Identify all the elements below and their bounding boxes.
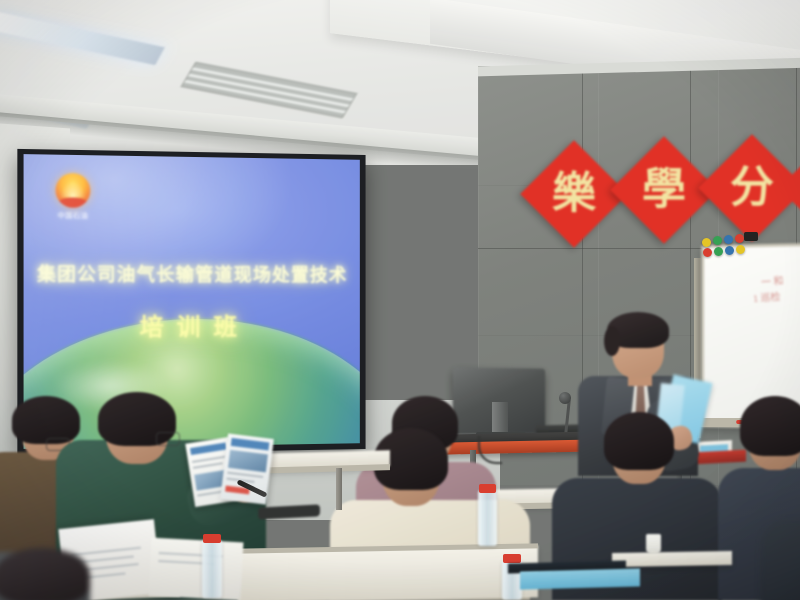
- placard-diamond-1: 樂: [520, 140, 627, 247]
- monitor-stand: [492, 402, 508, 436]
- whiteboard-writing-line-1: 一 和: [760, 272, 783, 289]
- microphone-icon: [559, 392, 571, 404]
- screen-sheen: [24, 154, 360, 449]
- glasses-icon: [156, 432, 180, 446]
- water-bottle[interactable]: [478, 490, 497, 546]
- water-bottle[interactable]: [202, 540, 222, 598]
- attendee-hair: [604, 412, 674, 470]
- placard-character-1: 樂: [536, 156, 612, 232]
- air-vent-grille: [181, 62, 358, 119]
- attendee-hair: [12, 396, 80, 444]
- bottle-cap: [503, 554, 521, 563]
- attendee-head: [0, 548, 90, 600]
- foreground-desk-center: [238, 545, 538, 600]
- magnet-green[interactable]: [714, 247, 723, 256]
- papers: [149, 538, 244, 600]
- bottle-cap: [479, 484, 496, 493]
- magnet-blue[interactable]: [724, 235, 733, 244]
- attendee-clothing: [760, 520, 800, 600]
- placard-character-2: 學: [626, 152, 702, 228]
- magnet-red[interactable]: [703, 248, 712, 257]
- magnet-green[interactable]: [713, 236, 722, 245]
- cyan-folder: [520, 568, 640, 589]
- bottle-cap: [203, 534, 221, 543]
- magnet-yellow[interactable]: [702, 238, 711, 247]
- white-cup[interactable]: [646, 534, 661, 554]
- board-clip: [744, 232, 758, 241]
- magnet-blue[interactable]: [725, 246, 734, 255]
- whiteboard-writing-line-2: 1 巡检: [753, 288, 781, 305]
- magnet-yellow[interactable]: [736, 245, 745, 254]
- attendee-hair: [740, 396, 800, 456]
- fluorescent-light-strip: [0, 11, 165, 65]
- desk-leg: [336, 468, 342, 510]
- desk: [612, 551, 732, 567]
- presenter-hair-side: [604, 326, 620, 356]
- magnet-red[interactable]: [735, 234, 744, 243]
- projected-slide: 中国石油 集团公司油气长输管道现场处置技术 培训班: [24, 154, 360, 449]
- conference-room-scene: 樂 學 分 一 和 1 巡检 中国石油 集团公: [0, 0, 800, 600]
